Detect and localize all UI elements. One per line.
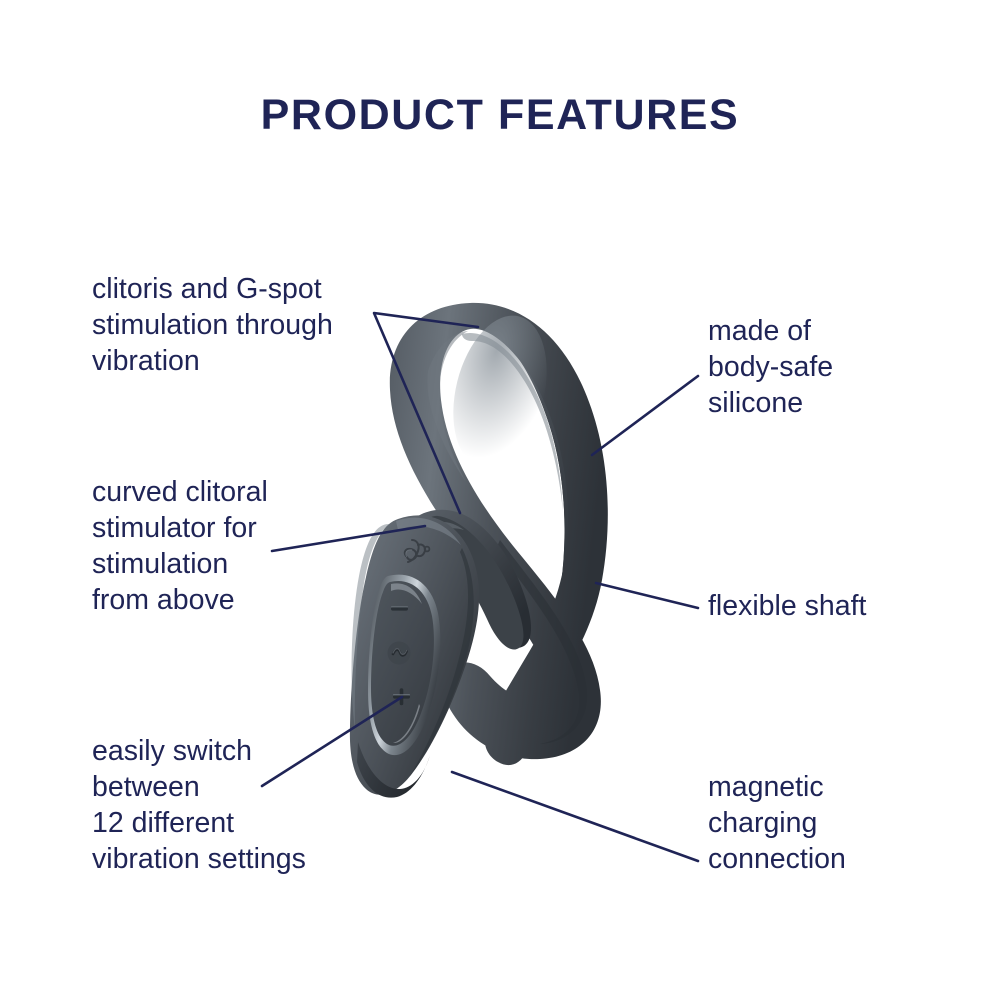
product-features-page: PRODUCT FEATURES clitoris and G-spot sti… <box>0 0 1000 1000</box>
page-title: PRODUCT FEATURES <box>0 94 1000 137</box>
feature-label-curved-stimulator: curved clitoral stimulator for stimulati… <box>92 474 362 618</box>
feature-label-magnetic-charging: magnetic charging connection <box>708 769 958 877</box>
feature-label-body-safe-silicone: made of body-safe silicone <box>708 313 958 421</box>
leader-silicone <box>592 376 698 455</box>
leader-magnetic <box>452 772 698 861</box>
feature-label-flexible-shaft: flexible shaft <box>708 588 958 624</box>
leader-flexible <box>596 583 698 608</box>
feature-label-clitoris-gspot: clitoris and G-spot stimulation through … <box>92 271 392 379</box>
feature-label-vibration-settings: easily switch between 12 different vibra… <box>92 733 382 877</box>
